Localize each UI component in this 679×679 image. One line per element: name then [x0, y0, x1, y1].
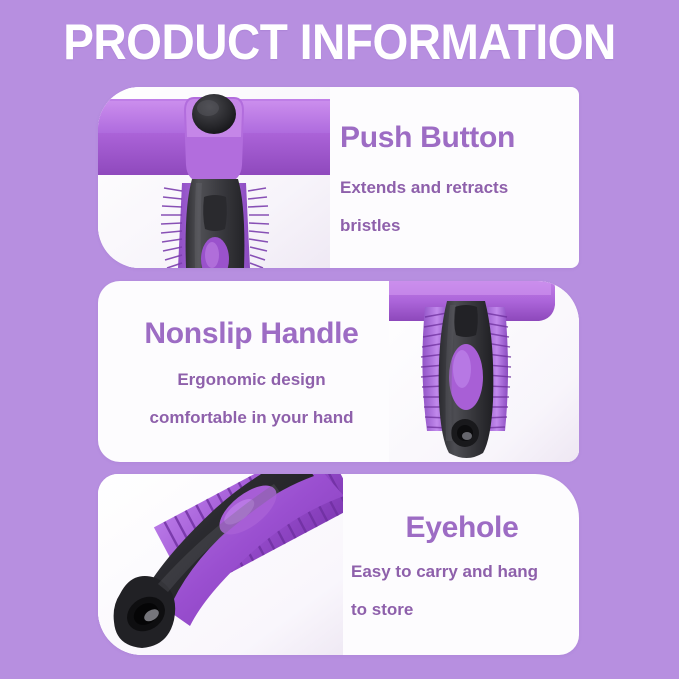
card-heading-push-button: Push Button [340, 120, 573, 156]
card-body-line: bristles [340, 216, 573, 236]
nonslip-handle-text-block: Nonslip Handle Ergonomic design comforta… [98, 281, 389, 462]
brush-handle-eyehole-photo [98, 474, 343, 655]
card-body-line: to store [351, 600, 573, 620]
card-heading-eyehole: Eyehole [351, 510, 573, 546]
brush-handle-grip-photo [389, 281, 579, 462]
feature-card-push-button: Push Button Extends and retracts bristle… [98, 87, 579, 268]
brush-head-push-button-photo [98, 87, 330, 268]
card-body-line: Easy to carry and hang [351, 562, 573, 582]
card-heading-nonslip-handle: Nonslip Handle [114, 316, 389, 352]
infographic-page: PRODUCT INFORMATION [0, 0, 679, 679]
handle-grip-illustration [389, 281, 579, 462]
eyehole-text-block: Eyehole Easy to carry and hang to store [343, 474, 579, 655]
push-button-text-block: Push Button Extends and retracts bristle… [330, 87, 579, 268]
card-body-line: Extends and retracts [340, 178, 573, 198]
eyehole-illustration [98, 474, 343, 655]
feature-card-eyehole: Eyehole Easy to carry and hang to store [98, 474, 579, 655]
feature-card-nonslip-handle: Nonslip Handle Ergonomic design comforta… [98, 281, 579, 462]
card-body-line: comfortable in your hand [114, 408, 389, 428]
card-body-line: Ergonomic design [114, 370, 389, 390]
page-title: PRODUCT INFORMATION [27, 14, 652, 70]
brush-head-illustration [98, 87, 330, 268]
